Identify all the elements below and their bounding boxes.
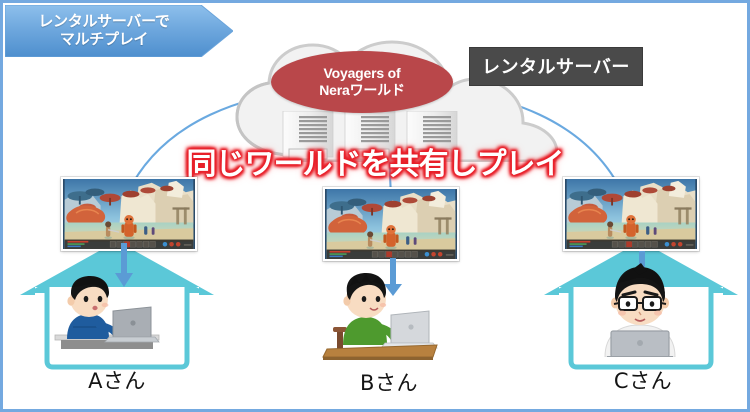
caption-user-b: Bさん [299,367,479,397]
person-figure-a [51,273,163,359]
slide-canvas: Voyagers ofNeraワールド レンタルサーバー 同じワールドを共有しプ… [0,0,750,412]
caption-user-a: Aさん [27,365,207,395]
game-screenshot-c [563,177,699,251]
server-racks [281,111,461,171]
game-screenshot-b [323,187,459,261]
rental-server-label: レンタルサーバー [469,47,643,86]
person-figure-c [589,261,691,357]
world-name-line2: Neraワールド [319,82,405,98]
world-name-badge: Voyagers ofNeraワールド [271,51,453,113]
caption-user-c: Cさん [553,365,733,395]
world-name-text: Voyagers ofNeraワールド [319,65,405,99]
game-screenshot-a [61,177,197,251]
title-banner: レンタルサーバーで マルチプレイ [5,5,233,57]
person-figure-b [321,271,441,363]
world-name-line1: Voyagers of [324,65,401,81]
